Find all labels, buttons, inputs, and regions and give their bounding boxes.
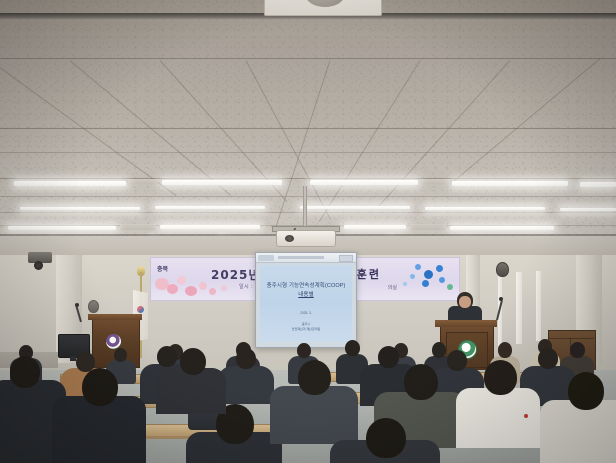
ceiling-projector	[276, 230, 336, 247]
ceiling-light-panel	[420, 179, 450, 184]
toolbar-tab	[258, 255, 274, 261]
attendee-head	[378, 346, 399, 368]
banner-petal-graphic	[209, 288, 216, 295]
side-podium-emblem	[106, 334, 121, 349]
presenter-face	[459, 296, 471, 308]
banner-dot-graphic	[415, 264, 421, 270]
banner-petal-graphic	[185, 286, 197, 296]
wall-speaker	[496, 262, 509, 277]
attendee-body	[540, 400, 616, 463]
ceiling-light	[155, 206, 265, 209]
ceiling-light	[162, 180, 282, 185]
slide-title-line-2: 내용별	[264, 291, 348, 299]
taegeuk-icon	[137, 306, 144, 313]
toolbar-control	[339, 255, 353, 262]
banner-dot-graphic	[424, 270, 433, 279]
banner-petal-graphic	[167, 284, 178, 294]
attendee-head	[570, 342, 585, 358]
banner-right-subtext: 의실	[388, 284, 397, 291]
projection-screen: 충주시형 기능연속성계획(COOP) 내용별 2025. 3. 충주시 안전재난…	[255, 252, 357, 348]
attendee-head	[345, 340, 360, 356]
ceiling-light-panel	[128, 179, 158, 184]
lecture-hall-photo: 충북 2025년 일시 : 2 육 훈련 의실 충주시형 기능연속성계획(COO…	[0, 0, 616, 463]
attendee-head	[180, 348, 206, 375]
banner-dot-graphic	[447, 284, 453, 290]
attendee-head	[447, 350, 467, 371]
presentation-slide: 충주시형 기능연속성계획(COOP) 내용별 2025. 3. 충주시 안전재난…	[260, 265, 352, 342]
banner-dot-graphic	[439, 277, 445, 283]
attendee-head	[114, 348, 127, 362]
slide-footer-line-2: 안전재난과 재난관리팀	[260, 327, 352, 332]
attendee-badge	[524, 414, 528, 418]
screen-app-toolbar	[256, 253, 356, 263]
attendee-body-white-shirt	[456, 388, 540, 448]
ceiling-grid-line	[0, 152, 616, 153]
banner-dot-graphic	[422, 280, 429, 287]
vertical-blind-slat	[536, 271, 541, 341]
banner-logo-text: 충북	[157, 264, 168, 273]
ceiling-light	[160, 225, 260, 229]
attendee-head	[297, 343, 311, 358]
attendee-head	[404, 364, 438, 400]
banner-year-text: 2025년	[211, 266, 260, 283]
slide-footer: 충주시 안전재난과 재난관리팀	[260, 322, 352, 332]
ceiling-light	[452, 181, 568, 186]
attendee-head	[157, 346, 177, 367]
banner-dot-graphic	[436, 265, 443, 272]
ceiling-light	[580, 182, 616, 187]
attendee-head	[82, 368, 118, 406]
cabinet-trim	[548, 338, 594, 339]
ceiling-ac-unit	[264, 0, 382, 16]
attendee-head	[298, 360, 331, 395]
ceiling-light-panel	[410, 224, 446, 230]
ceiling-light	[560, 208, 616, 211]
ceiling-light	[300, 206, 410, 209]
attendee-head	[498, 342, 512, 358]
side-podium-top	[88, 314, 142, 320]
slide-date-text: 2025. 3.	[260, 311, 352, 315]
projector-lens-icon	[285, 235, 294, 242]
attendee-head	[538, 348, 558, 369]
attendee-head	[568, 372, 604, 410]
ceiling-light	[14, 181, 126, 186]
attendee-head	[484, 360, 517, 395]
toolbar-title-strip	[278, 256, 324, 259]
podium-top-surface	[435, 320, 497, 327]
vertical-blind-slat	[516, 272, 522, 344]
ceiling-grid-line	[0, 196, 616, 197]
ceiling-light	[344, 225, 406, 229]
camera-lens-icon	[34, 261, 43, 270]
slide-title-line-1: 충주시형 기능연속성계획(COOP)	[264, 282, 348, 290]
ceiling-grid-line	[0, 212, 616, 213]
banner-petal-graphic	[221, 285, 227, 291]
wall-speaker	[88, 300, 99, 313]
attendee-head	[432, 342, 446, 358]
ceiling-light	[450, 226, 554, 230]
banner-petal-graphic	[177, 276, 186, 285]
banner-dot-graphic	[410, 274, 415, 279]
projector-mount-pole	[303, 186, 307, 228]
microphone-head-icon	[75, 303, 79, 307]
banner-petal-graphic	[199, 282, 207, 290]
microphone-head-icon	[499, 297, 503, 301]
attendee-head	[236, 348, 256, 369]
attendee-head	[10, 356, 40, 388]
attendee-body	[52, 396, 146, 463]
ceiling-light-panel	[120, 224, 156, 230]
ceiling-light	[8, 226, 116, 230]
ac-vent-icon	[305, 0, 345, 7]
ceiling-light	[425, 207, 545, 210]
ceiling-light	[310, 180, 418, 185]
ceiling-grid-line	[0, 58, 616, 59]
ceiling-light	[20, 207, 140, 210]
banner-dot-graphic	[403, 282, 407, 286]
attendee-body	[218, 366, 274, 404]
attendee-head	[366, 418, 406, 458]
